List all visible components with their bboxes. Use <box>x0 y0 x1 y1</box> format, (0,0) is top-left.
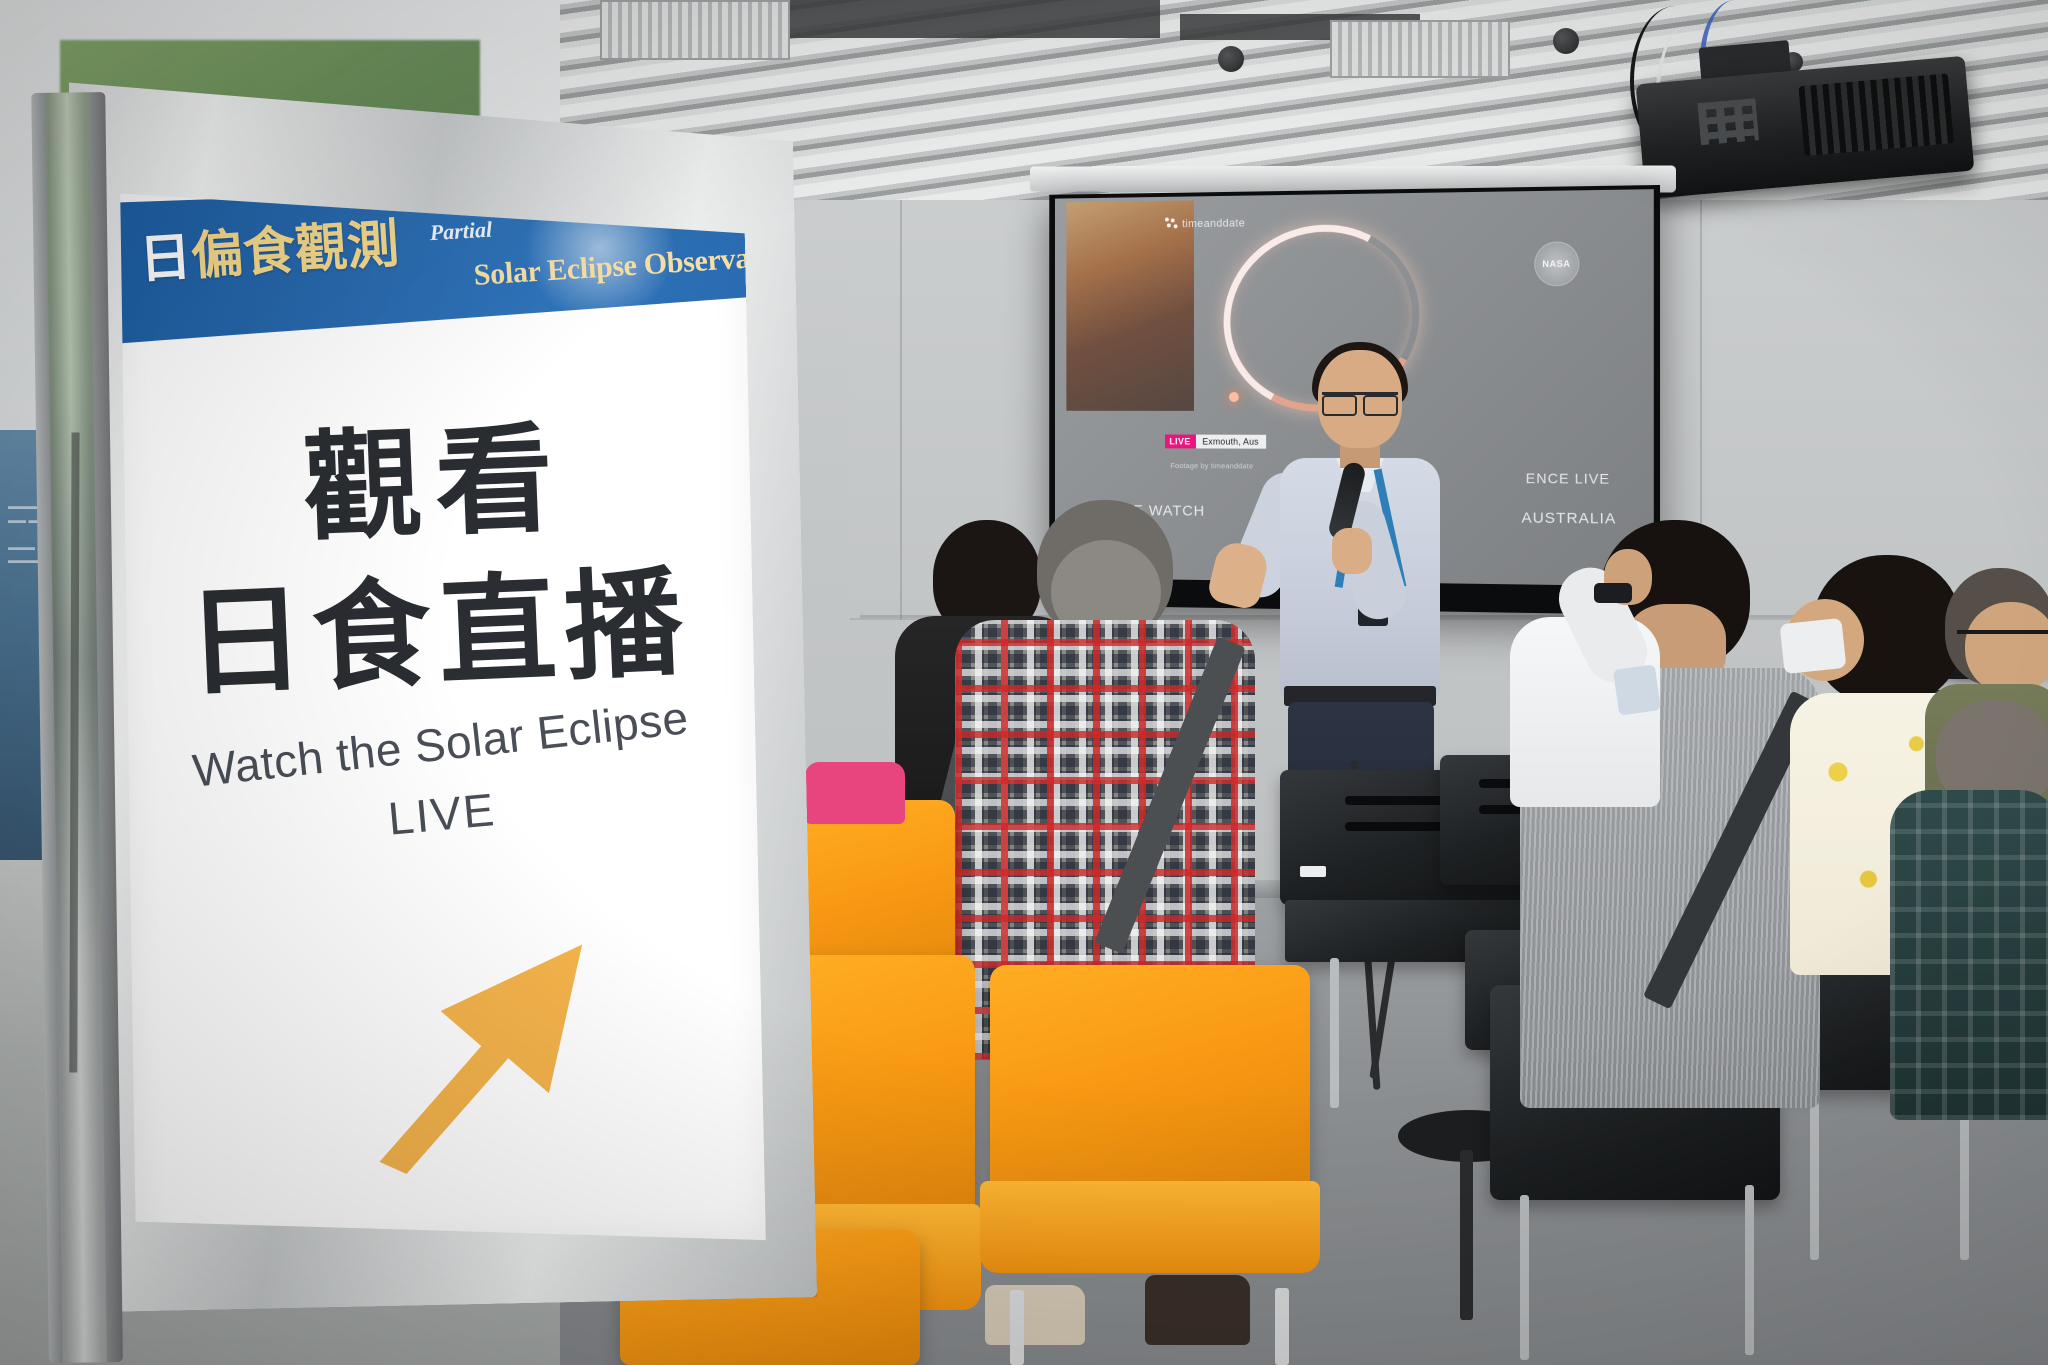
projector-buttons[interactable] <box>1697 98 1758 145</box>
shoe <box>985 1285 1085 1345</box>
orange-chair[interactable] <box>990 965 1310 1195</box>
scene-root: ▬▬▬▬ ▬▬ ▬▬▬▬▬▬▬ ▬▬▬▬ ▬▬▬▬▬▬ ▬▬▬▬▬▬▬ ▬ <box>0 0 2048 1365</box>
presenter-mic-hand <box>1332 528 1372 574</box>
timeanddate-wordmark: timeanddate <box>1182 217 1245 230</box>
direction-arrow-icon <box>329 883 635 1179</box>
chair-leg <box>1275 1288 1289 1365</box>
eclipse-sky-thumbnail <box>1066 200 1193 411</box>
live-badge: LIVE <box>1165 434 1196 448</box>
banner-english-small: Partial <box>429 217 493 247</box>
chair-seat <box>980 1181 1319 1273</box>
chair-leg <box>1520 1195 1529 1360</box>
timeanddate-dots-icon <box>1165 218 1178 231</box>
ceiling-speaker-icon <box>1553 28 1579 54</box>
projector-vent <box>1798 73 1954 156</box>
glasses-icon <box>1322 392 1398 409</box>
ac-vent-icon <box>1330 20 1510 78</box>
timeanddate-logo: timeanddate <box>1165 217 1246 231</box>
sign-heading-cn-line2: 日食直播 <box>120 524 757 721</box>
ceiling-speaker-icon <box>1218 46 1244 72</box>
banner-chinese-rest: 偏食觀測 <box>190 215 401 286</box>
eclipse-bailys-bead <box>1229 392 1239 402</box>
chair-leg <box>1330 958 1339 1108</box>
attendee-white-tshirt <box>1510 555 1700 815</box>
chair-leg <box>1745 1185 1754 1355</box>
face-mask-icon <box>1613 664 1661 715</box>
wristwatch-icon <box>1594 583 1632 603</box>
attendee-top <box>1890 790 2048 1120</box>
eclipse-wayfinding-sign: 日偏食觀測 Partial Solar Eclipse Observation … <box>27 67 844 1365</box>
banner-chinese-title: 日偏食觀測 <box>138 218 401 286</box>
chair-tag <box>1300 866 1326 877</box>
ac-vent-icon <box>600 0 790 60</box>
sign-board: 日偏食觀測 Partial Solar Eclipse Observation … <box>114 180 766 1253</box>
face-mask-icon <box>1780 618 1847 674</box>
nasa-logo: NASA <box>1534 242 1579 287</box>
attendee-teal-plaid <box>1890 700 2048 1160</box>
chair-leg <box>1010 1290 1024 1365</box>
stool-leg <box>1460 1150 1473 1320</box>
shoe <box>1145 1275 1250 1345</box>
screen-caption-right-top: ENCE LIVE <box>1526 470 1610 487</box>
glasses-icon <box>1957 630 2048 652</box>
